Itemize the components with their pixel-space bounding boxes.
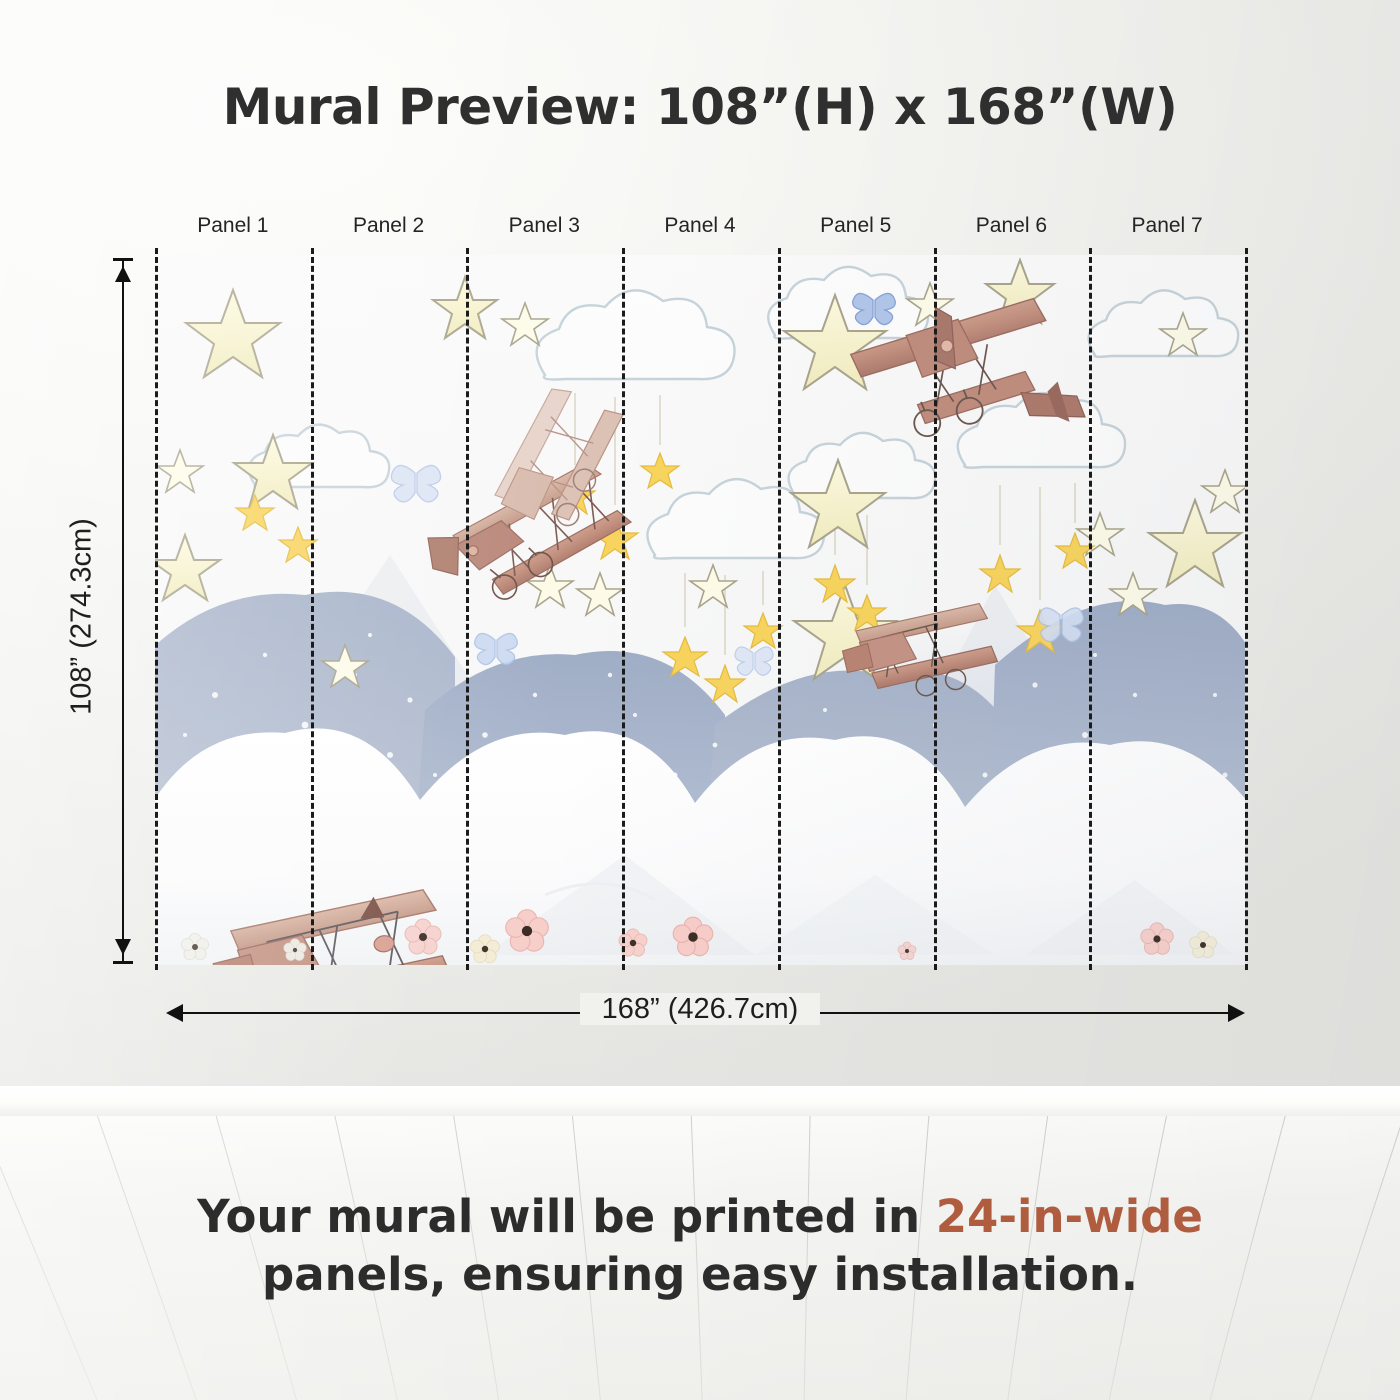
panel-divider-5 xyxy=(934,248,937,970)
panel-label-5: Panel 5 xyxy=(778,214,934,238)
panel-label-3: Panel 3 xyxy=(466,214,622,238)
vertical-dimension-line xyxy=(122,258,124,963)
panel-divider-2 xyxy=(466,248,469,970)
mural-preview-artwork xyxy=(155,255,1245,965)
caption-accent-panel-width: 24-in-wide xyxy=(936,1190,1203,1243)
footer-caption: Your mural will be printed in 24-in-wide… xyxy=(0,1188,1400,1303)
panel-divider-0 xyxy=(155,248,158,970)
panel-label-1: Panel 1 xyxy=(155,214,311,238)
page-title: Mural Preview: 108”(H) x 168”(W) xyxy=(0,78,1400,136)
caption-line-1: Your mural will be printed in 24-in-wide xyxy=(0,1188,1400,1246)
panel-label-4: Panel 4 xyxy=(622,214,778,238)
width-dimension-label: 168” (426.7cm) xyxy=(0,993,1400,1026)
vertical-dim-arrow-up xyxy=(115,266,131,282)
panel-divider-3 xyxy=(622,248,625,970)
vertical-dim-arrow-down xyxy=(115,939,131,955)
panel-divider-1 xyxy=(311,248,314,970)
panel-label-2: Panel 2 xyxy=(311,214,467,238)
panel-divider-4 xyxy=(778,248,781,970)
panel-divider-7 xyxy=(1245,248,1248,970)
caption-line-1-lead: Your mural will be printed in xyxy=(197,1190,936,1243)
width-dimension-text: 168” (426.7cm) xyxy=(580,993,821,1025)
panel-label-7: Panel 7 xyxy=(1089,214,1245,238)
caption-line-2: panels, ensuring easy installation. xyxy=(0,1246,1400,1304)
panel-label-6: Panel 6 xyxy=(934,214,1090,238)
baseboard xyxy=(0,1086,1400,1116)
panel-divider-6 xyxy=(1089,248,1092,970)
mural-illustration xyxy=(155,255,1245,965)
height-dimension-label: 108” (274.3cm) xyxy=(66,417,99,817)
